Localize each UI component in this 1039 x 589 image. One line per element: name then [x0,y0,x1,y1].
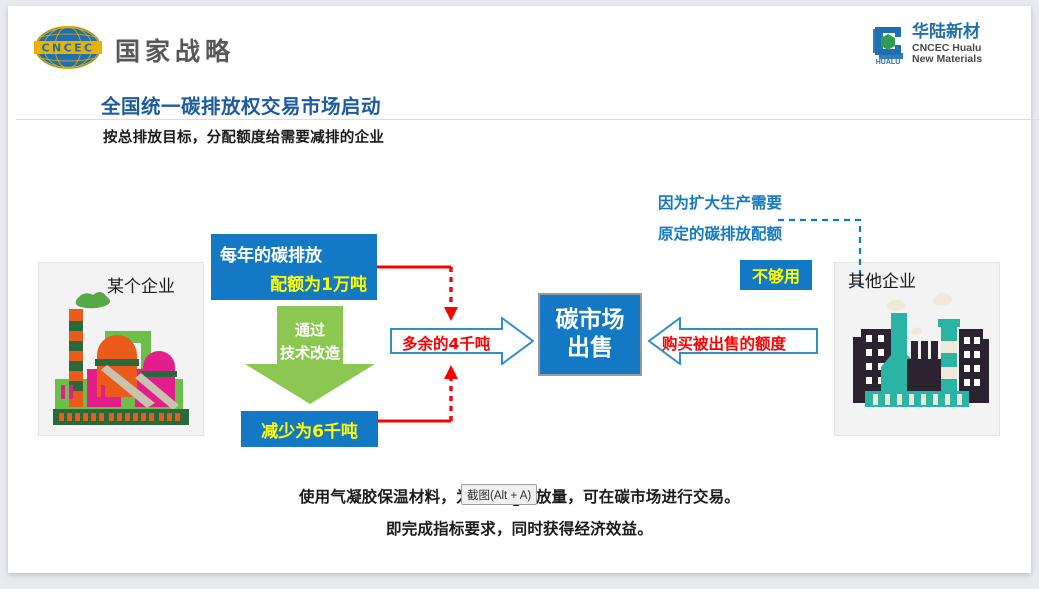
original-quota-caption: 原定的碳排放配额 [658,222,782,244]
annual-emission-box: 每年的碳排放 配额为1万吨 [211,234,377,300]
brand-title: 国家战略 [115,32,235,68]
buy-flow-arrow [648,317,818,365]
cncec-logo: CNCEC [30,25,106,70]
hualu-en-line2: New Materials [912,54,982,65]
reduced-emission-label: 减少为6千吨 [261,417,358,442]
screenshot-stage: CNCEC 国家战略 HUALU 华陆新材 CNCEC Hualu New Ma… [0,0,1039,589]
carbon-market-box: 碳市场 出售 [538,293,642,376]
page-subtitle: 按总排放目标，分配额度给需要减排的企业 [103,126,384,147]
left-company-label: 某个企业 [107,272,175,297]
not-enough-label: 不够用 [752,263,800,287]
not-enough-box: 不够用 [740,260,812,290]
sell-flow-arrow [390,317,534,365]
cncec-logo-text: CNCEC [42,41,95,54]
hualu-en-line1: CNCEC Hualu [912,43,982,54]
hualu-cn-name: 华陆新材 [912,24,982,41]
bottom-line1-part1: 使用气凝胶保温材料，为 [299,488,472,506]
expand-production-caption: 因为扩大生产需要 [658,191,782,213]
bottom-line1-part3: 排放量，可在碳市场进行交易。 [520,488,740,506]
carbon-market-line2: 出售 [567,335,613,362]
right-company-label: 其他企业 [848,267,916,292]
green-down-arrow [245,306,375,404]
title-divider [16,119,1039,120]
bottom-text-line2: 即完成指标要求，同时获得经济效益。 [8,517,1031,539]
hualu-mark-label: HUALU [876,59,901,65]
hualu-mark-icon: HUALU [869,23,907,65]
screenshot-tooltip[interactable]: 截图(Alt + A) [461,484,537,505]
annual-emission-line2: 配额为1万吨 [211,270,377,295]
annual-emission-line1: 每年的碳排放 [211,241,377,266]
hualu-logo: HUALU 华陆新材 CNCEC Hualu New Materials [869,20,1009,68]
reduced-emission-box: 减少为6千吨 [241,411,378,447]
carbon-market-line1: 碳市场 [556,307,625,334]
slide-canvas: CNCEC 国家战略 HUALU 华陆新材 CNCEC Hualu New Ma… [8,6,1031,573]
page-title: 全国统一碳排放权交易市场启动 [101,90,381,119]
